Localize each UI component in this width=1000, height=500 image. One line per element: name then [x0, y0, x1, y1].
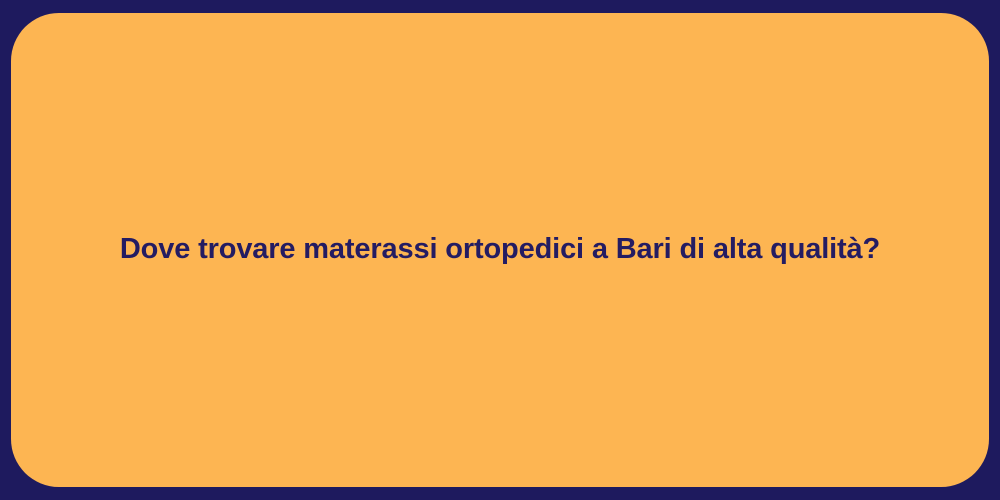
page-frame: Dove trovare materassi ortopedici a Bari… [0, 0, 1000, 500]
page-title: Dove trovare materassi ortopedici a Bari… [120, 231, 880, 267]
content-card: Dove trovare materassi ortopedici a Bari… [11, 13, 989, 487]
